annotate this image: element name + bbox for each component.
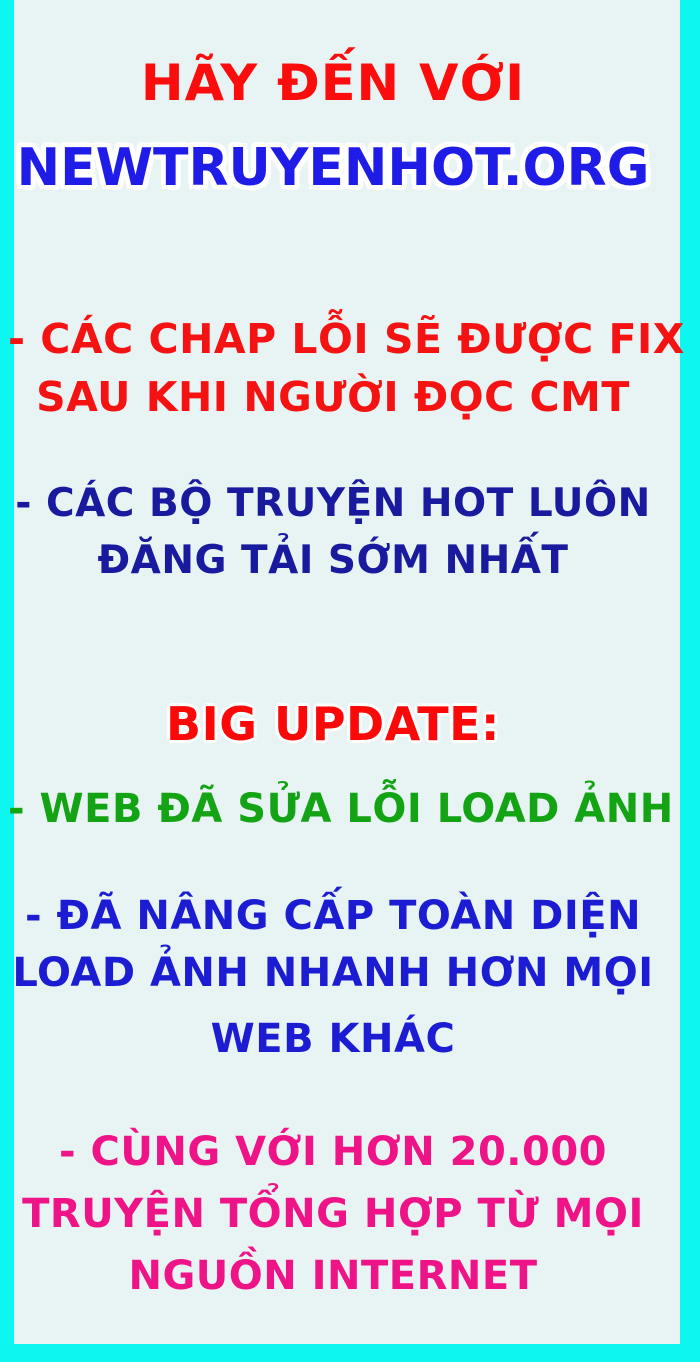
bottom-cyan-border xyxy=(0,1344,700,1362)
promo-poster: HÃY ĐẾN VỚI NEWTRUYENHOT.ORG - CÁC CHAP … xyxy=(0,0,700,1368)
update-story-count-line-2: TRUYỆN TỔNG HỢP TỪ MỌI xyxy=(8,1191,658,1237)
update-story-count-line-1: - CÙNG VỚI HƠN 20.000 xyxy=(8,1129,658,1175)
greeting-headline: HÃY ĐẾN VỚI xyxy=(2,54,665,112)
site-domain-headline[interactable]: NEWTRUYENHOT.ORG xyxy=(8,138,658,198)
notice-fix-line-2: SAU KHI NGƯỜI ĐỌC CMT xyxy=(8,373,658,421)
update-story-count-line-3: NGUỒN INTERNET xyxy=(8,1253,658,1299)
update-image-load-fix-line-1: - WEB ĐÃ SỬA LỖI LOAD ẢNH xyxy=(8,786,658,832)
update-full-upgrade-line-2: LOAD ẢNH NHANH HƠN MỌI xyxy=(8,950,658,996)
notice-hot-series-line-2: ĐĂNG TẢI SỚM NHẤT xyxy=(8,538,658,583)
notice-fix-line-1: - CÁC CHAP LỖI SẼ ĐƯỢC FIX xyxy=(8,315,658,363)
big-update-heading: BIG UPDATE: xyxy=(8,697,658,751)
update-full-upgrade-line-1: - ĐÃ NÂNG CẤP TOÀN DIỆN xyxy=(8,893,658,939)
right-cyan-border xyxy=(680,0,700,1362)
update-full-upgrade-line-3: WEB KHÁC xyxy=(8,1016,658,1062)
notice-hot-series-line-1: - CÁC BỘ TRUYỆN HOT LUÔN xyxy=(8,481,658,526)
